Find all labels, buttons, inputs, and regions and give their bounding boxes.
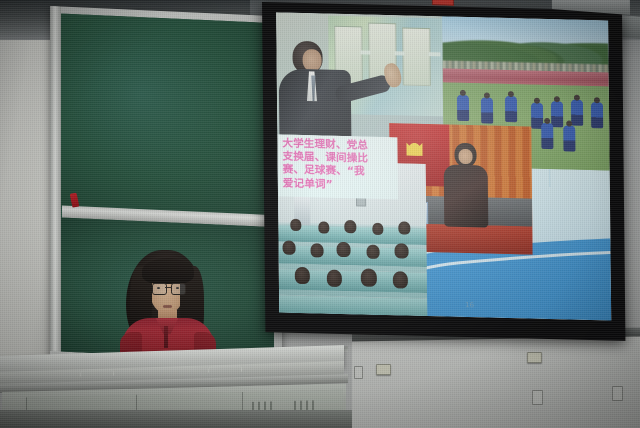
seated-student	[311, 243, 324, 257]
seated-student	[282, 241, 295, 255]
student-figure	[591, 102, 603, 128]
power-outlet[interactable]	[532, 390, 543, 405]
presenter-fringe	[142, 258, 194, 284]
diagram-arrow-icon	[360, 50, 370, 54]
auditorium-seating	[278, 218, 427, 316]
slide-text: 大学生理财、党总 支换届、课间操比 赛、足球赛、“我 爱记单词”	[282, 138, 394, 194]
seated-student	[372, 223, 383, 235]
student-figure	[457, 95, 469, 121]
seated-student	[398, 221, 410, 234]
student-figure	[551, 101, 563, 127]
seated-student	[290, 219, 301, 231]
student-figure	[571, 100, 583, 126]
projected-slide: 大学生理财、党总 支换届、课间操比 赛、足球赛、“我 爱记单词” 16	[276, 12, 611, 320]
desk-handle[interactable]	[208, 365, 242, 372]
seated-student	[318, 221, 329, 233]
slide-number: 16	[465, 301, 474, 309]
seated-student	[295, 267, 310, 284]
person-jacket	[444, 164, 489, 227]
student-figure	[481, 97, 493, 123]
voting-person	[441, 142, 488, 235]
seated-student	[367, 245, 380, 259]
seated-student	[394, 243, 408, 258]
blackboard-upper-panel	[60, 13, 274, 215]
student-figure	[505, 96, 517, 122]
glasses-lens-right	[171, 283, 186, 295]
seated-student	[344, 220, 356, 233]
diagram-card	[402, 27, 431, 86]
person-face	[458, 149, 472, 164]
right-wall-panels	[352, 330, 640, 428]
screen-brand-label	[432, 0, 454, 6]
panel-clip-icon	[376, 364, 391, 375]
diagram-arrow-icon	[394, 51, 404, 55]
glasses-lens-left	[152, 283, 167, 295]
student-figure	[563, 125, 575, 151]
presenter-placket	[164, 326, 168, 348]
seated-student	[327, 270, 342, 287]
blackboard-slide-rail[interactable]	[50, 6, 61, 351]
panel-clip-icon	[527, 352, 542, 363]
desk-handle[interactable]	[80, 369, 114, 376]
seated-student	[336, 242, 350, 257]
whiteboard-panel	[352, 338, 513, 428]
seated-student	[393, 271, 408, 288]
slide-text-box: 大学生理财、党总 支换届、课间操比 赛、足球赛、“我 爱记单词”	[277, 134, 398, 199]
presenter-mouth	[163, 305, 172, 308]
slide-photo-man-presenting	[276, 12, 443, 138]
seat-row	[278, 294, 428, 316]
light-switch[interactable]	[612, 386, 623, 401]
student-figure	[541, 123, 553, 149]
classroom-photo: 大学生理财、党总 支换届、课间操比 赛、足球赛、“我 爱记单词” 16	[0, 0, 640, 428]
projection-screen: 大学生理财、党总 支换届、课间操比 赛、足球赛、“我 爱记单词” 16	[262, 2, 625, 341]
floor	[0, 410, 352, 428]
hammer-sickle-icon	[403, 137, 425, 160]
power-outlet[interactable]	[354, 366, 363, 379]
seated-student	[361, 268, 377, 286]
whiteboard-panel	[512, 332, 640, 428]
glasses-icon	[152, 283, 184, 293]
diagram-arrow-icon	[428, 52, 440, 56]
